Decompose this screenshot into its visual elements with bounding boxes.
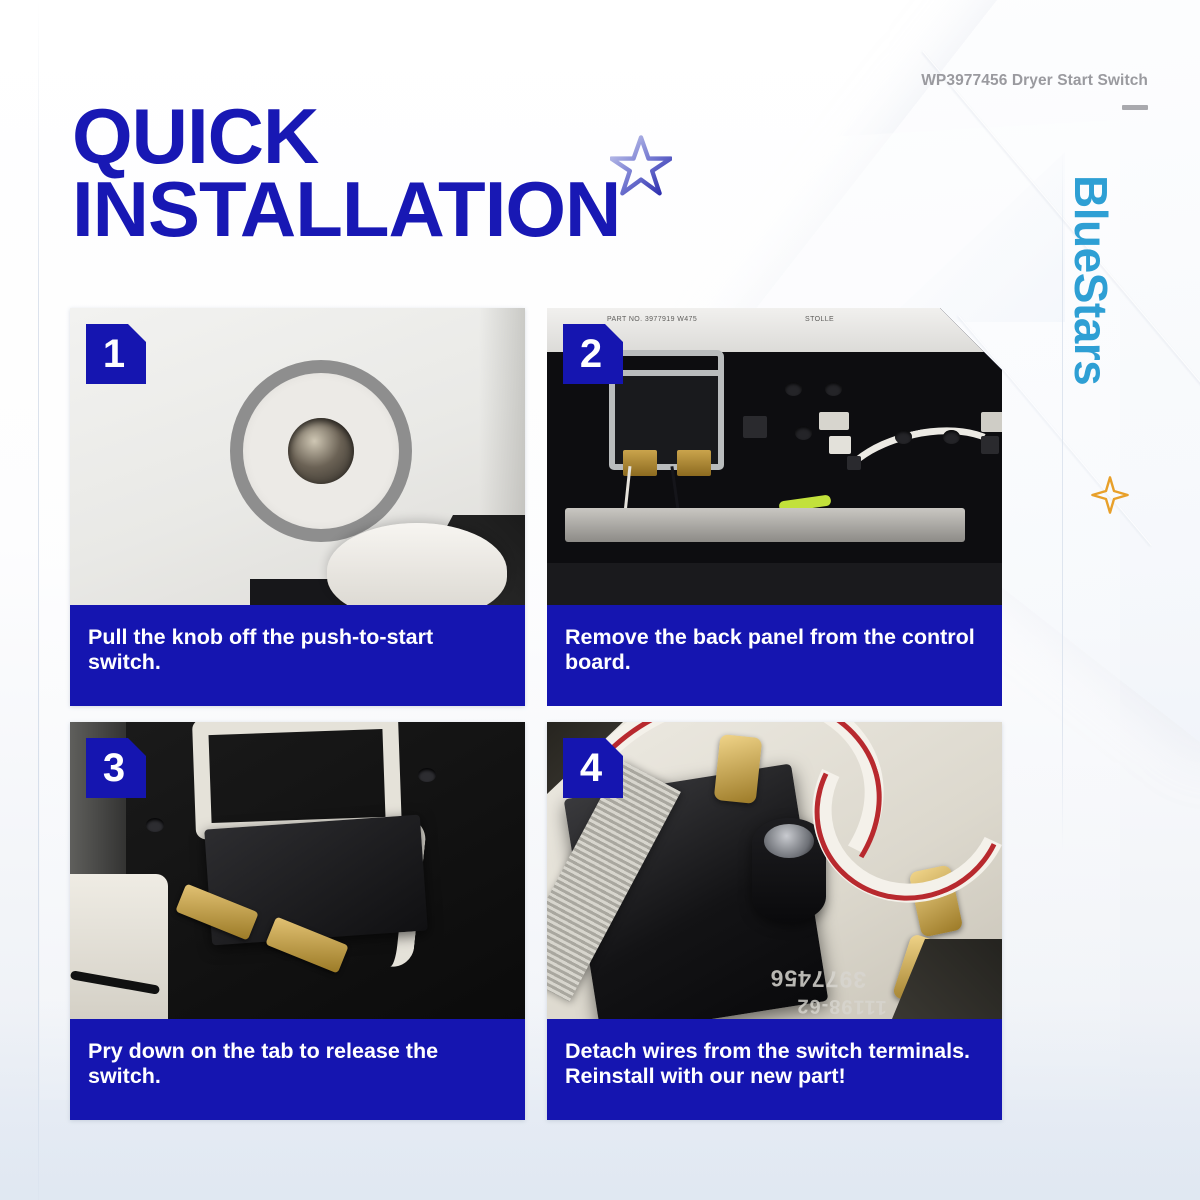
- step-card-3: 3 Pry down on the tab to release the swi…: [70, 722, 525, 1120]
- background-vertical-line-logo: [1062, 152, 1063, 852]
- step-3-photo: 3: [70, 722, 525, 1019]
- part-header: WP3977456 Dryer Start Switch: [921, 72, 1148, 110]
- header-divider-dash: [1122, 105, 1148, 110]
- board-hole: [895, 430, 912, 444]
- switch-code-text: 11198-62: [706, 992, 886, 1018]
- board-hole: [785, 382, 802, 396]
- brand-logo-text: BlueStars: [1064, 175, 1118, 385]
- step-number-badge-4: 4: [563, 738, 623, 798]
- board-maker-text: STOLLE: [805, 316, 834, 323]
- brand-name-part1: Blue: [1065, 175, 1117, 273]
- board-hole: [795, 426, 812, 440]
- board-connector: [981, 412, 1002, 432]
- step-4-photo: 3977456 11198-62 4: [547, 722, 1002, 1019]
- page-title-line2: INSTALLATION: [72, 165, 620, 253]
- board-connector: [829, 436, 851, 454]
- sparkle-star-icon: [1090, 475, 1130, 515]
- step-caption-4: Detach wires from the switch terminals. …: [547, 1019, 1002, 1120]
- board-part-number-text: PART NO. 3977919 W475: [607, 316, 697, 323]
- step-caption-2: Remove the back panel from the control b…: [547, 605, 1002, 706]
- brass-terminal: [677, 450, 711, 476]
- step-number-badge-3: 3: [86, 738, 146, 798]
- board-block: [847, 456, 861, 470]
- step-card-4: 3977456 11198-62 4 Detach wires from the…: [547, 722, 1002, 1120]
- page-title-line2-wrap: INSTALLATION: [72, 173, 620, 246]
- switch-part-number-text: 3977456: [686, 963, 866, 993]
- star-icon: [610, 135, 672, 197]
- board-block: [981, 436, 999, 454]
- step-1-photo: 1: [70, 308, 525, 605]
- step-caption-1: Pull the knob off the push-to-start swit…: [70, 605, 525, 706]
- metal-bracket-bar: [565, 508, 965, 542]
- knob-shaft-hole: [288, 418, 354, 484]
- part-name-label: WP3977456 Dryer Start Switch: [921, 72, 1148, 90]
- brand-name-part2: Stars: [1065, 273, 1117, 386]
- lower-dark-bar: [547, 563, 1002, 605]
- brass-terminal: [714, 734, 763, 804]
- board-block: [743, 416, 767, 438]
- step-number-badge-1: 1: [86, 324, 146, 384]
- installation-steps-grid: 1 Pull the knob off the push-to-start sw…: [70, 308, 1017, 1138]
- step-caption-3: Pry down on the tab to release the switc…: [70, 1019, 525, 1120]
- white-bracket-left: [70, 874, 168, 1019]
- board-connector: [819, 412, 849, 430]
- page-title: QUICK INSTALLATION: [72, 100, 832, 247]
- step-card-1: 1 Pull the knob off the push-to-start sw…: [70, 308, 525, 706]
- page-title-line1: QUICK: [72, 100, 832, 173]
- step-card-2: PART NO. 3977919 W475 STOLLE: [547, 308, 1002, 706]
- board-hole: [825, 382, 842, 396]
- board-hole: [943, 430, 960, 444]
- step-number-badge-2: 2: [563, 324, 623, 384]
- panel-hole: [418, 768, 436, 782]
- brand-logo: BlueStars: [1072, 175, 1132, 515]
- panel-hole: [146, 818, 164, 832]
- step-2-photo: PART NO. 3977919 W475 STOLLE: [547, 308, 1002, 605]
- switch-connector-bracket: [609, 370, 724, 470]
